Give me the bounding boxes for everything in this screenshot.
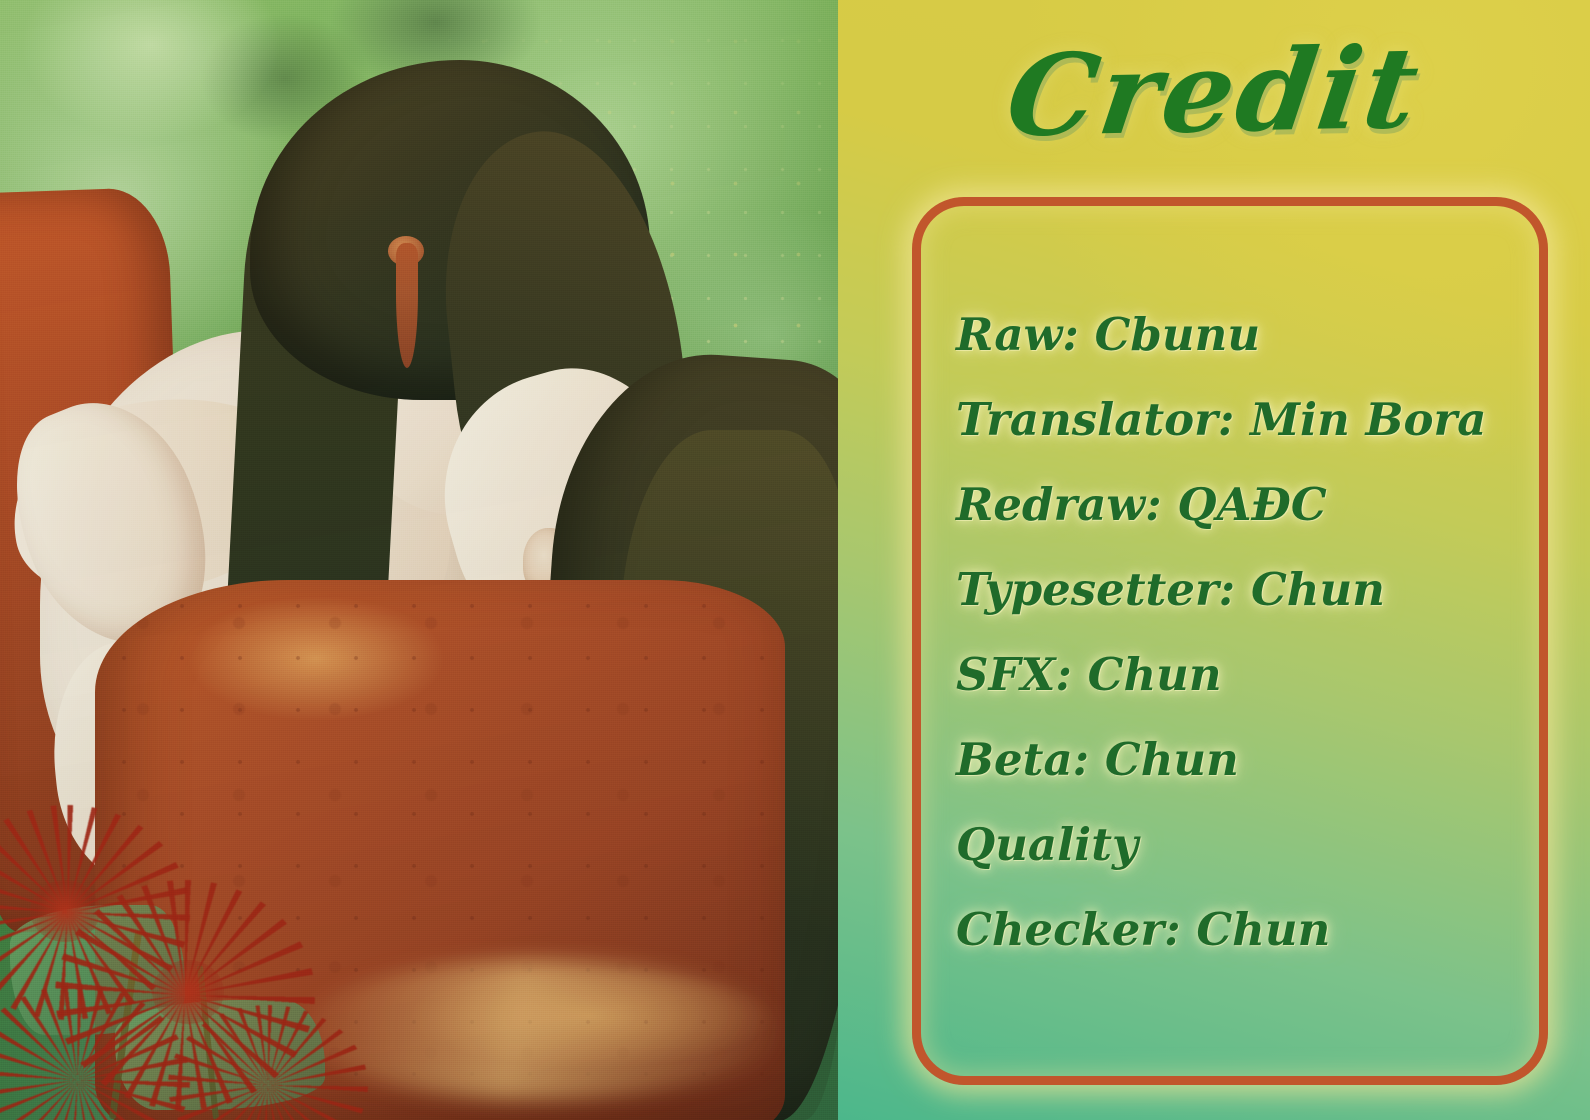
- artwork-illustration: [0, 0, 838, 1120]
- credit-line-beta: Beta: Chun: [956, 717, 1466, 802]
- credit-panel: Credit Raw: Cbunu Translator: Min Bora R…: [838, 0, 1590, 1120]
- credit-line-checker: Checker: Chun: [956, 887, 1466, 972]
- credit-line-quality: Quality: [956, 802, 1466, 887]
- credit-line-redraw: Redraw: QAĐC: [956, 462, 1466, 547]
- credit-page: Credit Raw: Cbunu Translator: Min Bora R…: [0, 0, 1590, 1120]
- paper-grain-overlay: [0, 0, 838, 1120]
- credit-line-typesetter: Typesetter: Chun: [956, 547, 1466, 632]
- credit-list: Raw: Cbunu Translator: Min Bora Redraw: …: [956, 292, 1466, 972]
- credit-line-sfx: SFX: Chun: [956, 632, 1466, 717]
- credit-line-translator: Translator: Min Bora: [956, 377, 1466, 462]
- credit-title: Credit: [838, 26, 1590, 159]
- credit-line-raw: Raw: Cbunu: [956, 292, 1466, 377]
